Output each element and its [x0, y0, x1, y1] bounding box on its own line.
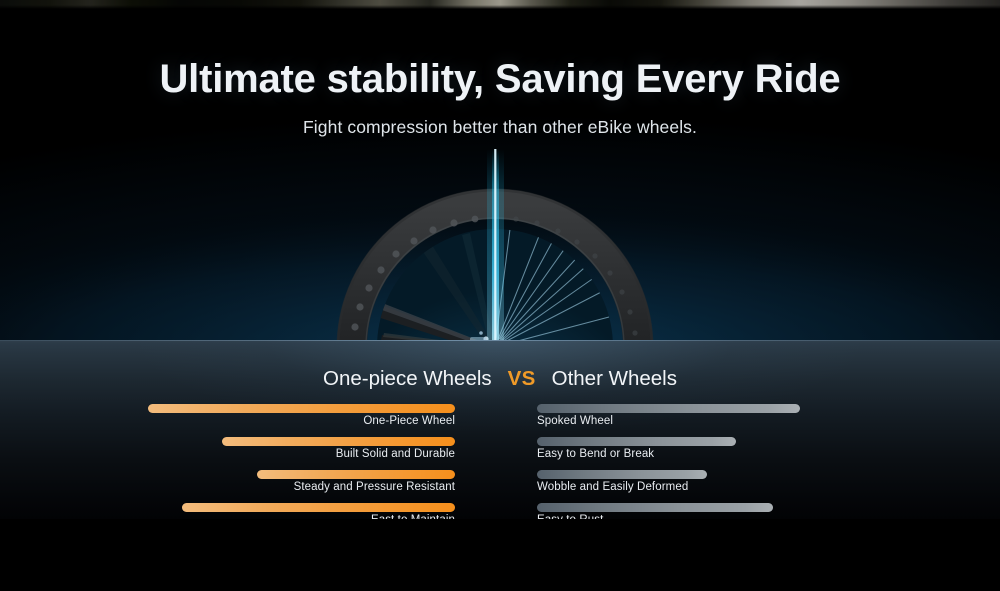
right-bar-row: Easy to Bend or Break [537, 437, 736, 470]
right-bar-fill [537, 404, 800, 413]
left-bar-row: One-Piece Wheel [148, 404, 455, 437]
comparison-panel: One-piece WheelsVSOther Wheels One-Piece… [0, 340, 1000, 591]
right-bar-label: Easy to Bend or Break [537, 448, 867, 460]
left-bar-label: Built Solid and Durable [62, 448, 455, 460]
promo-banner: Ultimate stability, Saving Every Ride Fi… [0, 0, 1000, 591]
left-bar-label: Steady and Pressure Resistant [57, 481, 455, 493]
right-bar-fill [537, 470, 707, 479]
right-bar-label: Spoked Wheel [537, 415, 867, 427]
right-bar-row: Spoked Wheel [537, 404, 800, 437]
left-bar-fill [257, 470, 455, 479]
split-beam [487, 149, 504, 349]
left-bar-fill [182, 503, 455, 512]
wheel-illustration [0, 149, 1000, 349]
left-bar-row: Built Solid and Durable [222, 437, 455, 470]
left-bar-row: Steady and Pressure Resistant [257, 470, 455, 503]
bike-wheel-graphic [0, 149, 1000, 349]
left-bar-label: One-Piece Wheel [148, 415, 455, 427]
page-subtitle: Fight compression better than other eBik… [0, 117, 1000, 138]
left-bar-fill [222, 437, 455, 446]
right-bar-fill [537, 503, 773, 512]
right-bar-row: Wobble and Easily Deformed [537, 470, 707, 503]
left-bar-fill [148, 404, 455, 413]
previous-image-sliver [0, 0, 1000, 9]
right-bar-fill [537, 437, 736, 446]
page-title: Ultimate stability, Saving Every Ride [0, 57, 1000, 102]
hero-section: Ultimate stability, Saving Every Ride Fi… [0, 9, 1000, 340]
bottom-fill [0, 519, 1000, 591]
right-bar-label: Wobble and Easily Deformed [537, 481, 867, 493]
